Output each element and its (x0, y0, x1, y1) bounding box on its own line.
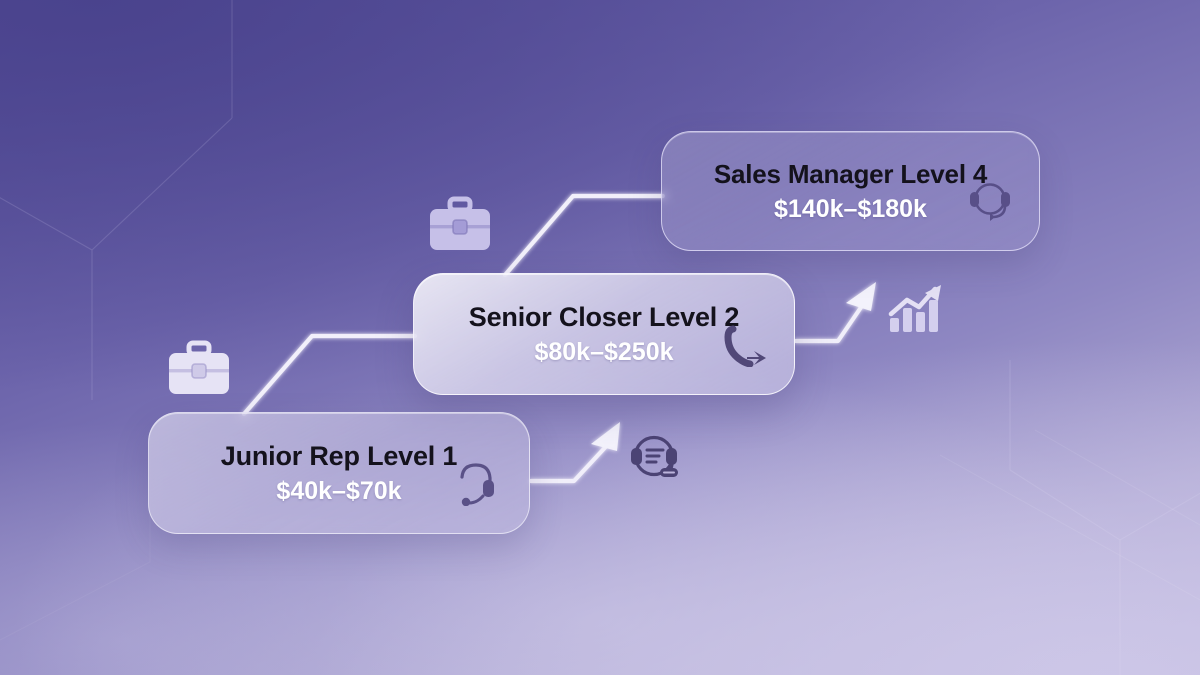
level-title: Junior Rep Level 1 (221, 441, 457, 472)
customer-support-headset-icon (626, 430, 688, 491)
level-salary: $80k–$250k (534, 338, 673, 367)
level-card-senior-closer[interactable]: Senior Closer Level 2 $80k–$250k (413, 273, 795, 395)
briefcase-icon (424, 193, 496, 260)
level-card-sales-manager[interactable]: Sales Manager Level 4 $140k–$180k (661, 131, 1040, 251)
connector-level1-level2 (244, 336, 415, 414)
level-card-junior-rep[interactable]: Junior Rep Level 1 $40k–$70k (148, 412, 530, 534)
diagram-canvas: Sales Manager Level 4 $140k–$180k Senior… (0, 0, 1200, 675)
growth-arrow-upper (796, 282, 876, 341)
headset-outline-icon (965, 179, 1015, 230)
level-salary: $40k–$70k (276, 477, 401, 506)
connector-level2-level4 (505, 196, 663, 275)
briefcase-icon (163, 337, 235, 404)
phone-arrow-icon (722, 323, 768, 372)
growth-arrow-lower (531, 422, 620, 481)
level-title: Sales Manager Level 4 (714, 159, 987, 190)
level-title: Senior Closer Level 2 (469, 302, 739, 333)
chart-growth-arrow-icon (885, 280, 947, 343)
level-salary: $140k–$180k (774, 195, 927, 224)
headset-icon (453, 458, 503, 511)
